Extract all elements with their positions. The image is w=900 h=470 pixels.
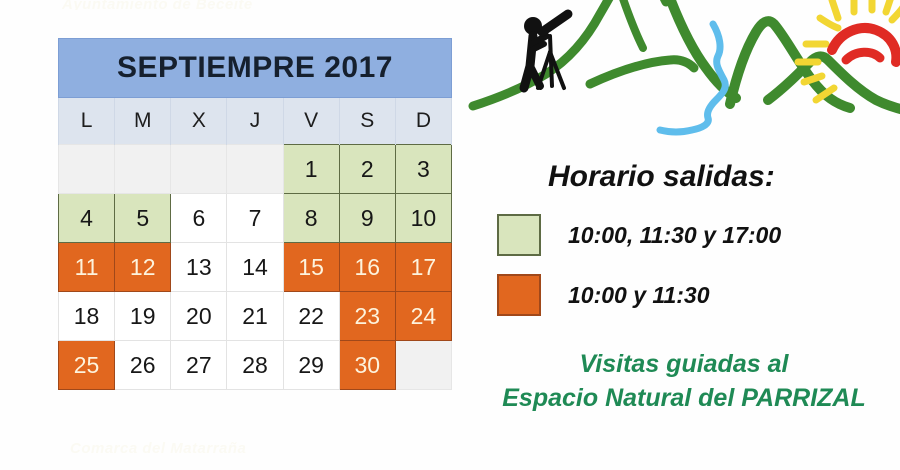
calendar-week-row: 123 — [59, 145, 452, 194]
calendar-day-10[interactable]: 10 — [395, 194, 451, 243]
calendar-day-23[interactable]: 23 — [339, 292, 395, 341]
espacio-natural-parrizal-logo — [468, 0, 900, 144]
legend-swatch-green — [497, 214, 541, 256]
calendar-day-4[interactable]: 4 — [59, 194, 115, 243]
weekday-header-s: S — [339, 98, 395, 145]
calendar-day-empty — [227, 145, 283, 194]
calendar-day-5[interactable]: 5 — [115, 194, 171, 243]
calendar-day-22[interactable]: 22 — [283, 292, 339, 341]
calendar-day-6[interactable]: 6 — [171, 194, 227, 243]
legend-label-green: 10:00, 11:30 y 17:00 — [568, 222, 781, 249]
calendar-day-11[interactable]: 11 — [59, 243, 115, 292]
horario-salidas-title: Horario salidas: — [548, 160, 775, 194]
calendar-day-empty — [115, 145, 171, 194]
calendar-day-9[interactable]: 9 — [339, 194, 395, 243]
calendar-day-25[interactable]: 25 — [59, 341, 115, 390]
weekday-header-l: L — [59, 98, 115, 145]
calendar-title-row: SEPTIEMPRE 2017 — [59, 39, 452, 98]
calendar-day-29[interactable]: 29 — [283, 341, 339, 390]
legend-swatch-orange — [497, 274, 541, 316]
cropped-text-bottom: Comarca del Matarraña — [70, 440, 380, 456]
calendar-day-empty — [395, 341, 451, 390]
calendar-day-19[interactable]: 19 — [115, 292, 171, 341]
calendar-day-empty — [59, 145, 115, 194]
calendar-day-13[interactable]: 13 — [171, 243, 227, 292]
calendar-table: SEPTIEMPRE 2017LMXJVSD123456789101112131… — [58, 38, 452, 390]
calendar-day-empty — [171, 145, 227, 194]
mountain-mid-icon — [590, 60, 694, 84]
calendar-day-21[interactable]: 21 — [227, 292, 283, 341]
calendar-day-17[interactable]: 17 — [395, 243, 451, 292]
footer-line-2: Espacio Natural del PARRIZAL — [468, 382, 900, 416]
calendar-day-16[interactable]: 16 — [339, 243, 395, 292]
calendar-day-28[interactable]: 28 — [227, 341, 283, 390]
footer-line-1: Visitas guiadas al — [468, 348, 900, 382]
calendar-week-row: 18192021222324 — [59, 292, 452, 341]
legend-item-green: 10:00, 11:30 y 17:00 — [497, 214, 781, 256]
sun-disc-icon — [832, 28, 896, 62]
calendar-day-20[interactable]: 20 — [171, 292, 227, 341]
calendar-weekday-row: LMXJVSD — [59, 98, 452, 145]
calendar-day-18[interactable]: 18 — [59, 292, 115, 341]
calendar-week-row: 45678910 — [59, 194, 452, 243]
legend-item-orange: 10:00 y 11:30 — [497, 274, 710, 316]
cropped-text-top: Ayuntamiento de Beceite — [62, 0, 362, 10]
calendar-day-8[interactable]: 8 — [283, 194, 339, 243]
calendar-week-row: 252627282930 — [59, 341, 452, 390]
calendar-day-3[interactable]: 3 — [395, 145, 451, 194]
weekday-header-j: J — [227, 98, 283, 145]
calendar-day-24[interactable]: 24 — [395, 292, 451, 341]
calendar-month-title: SEPTIEMPRE 2017 — [59, 39, 452, 98]
weekday-header-d: D — [395, 98, 451, 145]
calendar-day-30[interactable]: 30 — [339, 341, 395, 390]
calendar-day-14[interactable]: 14 — [227, 243, 283, 292]
weekday-header-v: V — [283, 98, 339, 145]
weekday-header-x: X — [171, 98, 227, 145]
calendar-day-2[interactable]: 2 — [339, 145, 395, 194]
legend-label-orange: 10:00 y 11:30 — [568, 282, 710, 309]
calendar-week-row: 11121314151617 — [59, 243, 452, 292]
calendar-day-1[interactable]: 1 — [283, 145, 339, 194]
footer-caption: Visitas guiadas al Espacio Natural del P… — [468, 348, 900, 416]
poster-canvas: Ayuntamiento de Beceite SEPTIEMPRE 2017L… — [0, 0, 900, 470]
calendar-day-27[interactable]: 27 — [171, 341, 227, 390]
weekday-header-m: M — [115, 98, 171, 145]
calendar-day-12[interactable]: 12 — [115, 243, 171, 292]
mountain-left-icon — [473, 0, 618, 106]
calendar-day-26[interactable]: 26 — [115, 341, 171, 390]
calendar-day-7[interactable]: 7 — [227, 194, 283, 243]
calendar-day-15[interactable]: 15 — [283, 243, 339, 292]
